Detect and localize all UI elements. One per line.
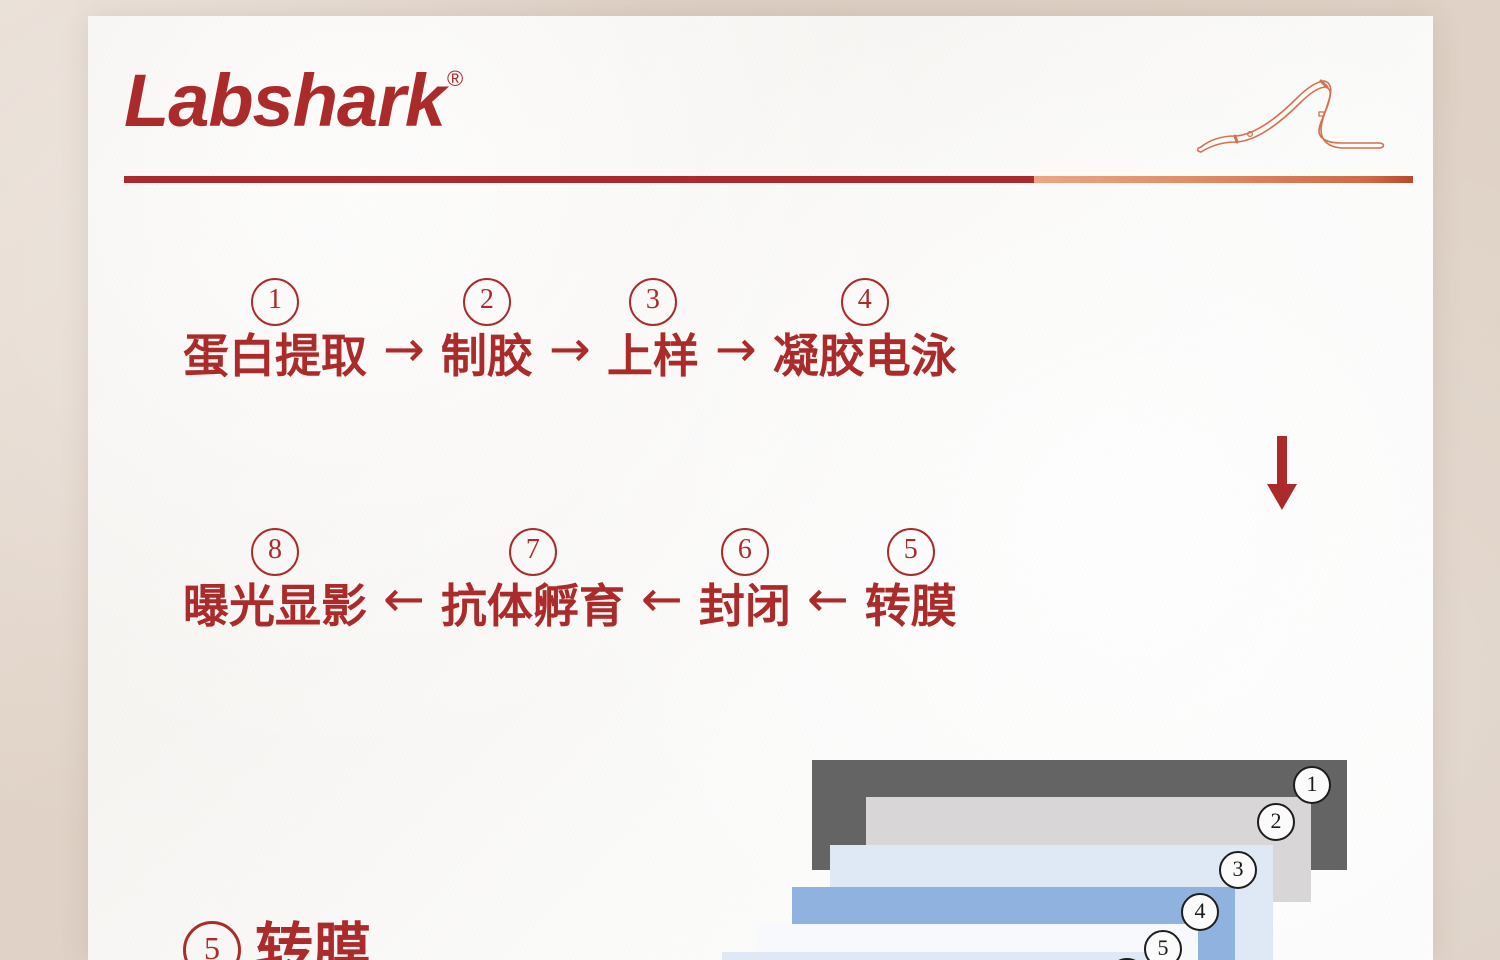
document-page: Labshark® 1 蛋白提取 → 2 制胶 — [88, 16, 1433, 960]
section-heading-badge: 5 — [183, 921, 241, 960]
sandwich-badge-4: 4 — [1181, 893, 1219, 931]
sandwich-badge-1: 1 — [1293, 766, 1331, 804]
section-heading-title: 转膜 — [255, 921, 371, 960]
transfer-sandwich-illustration: 1 2 3 4 5 6 — [88, 16, 1433, 960]
sandwich-badge-3: 3 — [1219, 851, 1257, 889]
sandwich-layer-6 — [722, 952, 1162, 960]
sandwich-badge-2: 2 — [1257, 803, 1295, 841]
sandwich-badge-5: 5 — [1144, 930, 1182, 960]
section-heading-transfer: 5 转膜 — [183, 921, 371, 960]
